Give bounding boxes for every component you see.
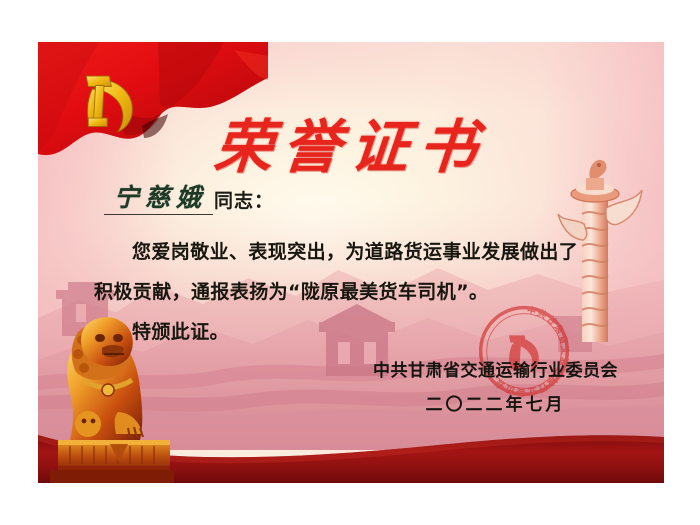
signature-block: 中共甘肃省交通运输行业委员会 二〇二二年七月 bbox=[373, 356, 618, 415]
body-line-3: 特颁此证。 bbox=[94, 312, 594, 352]
recipient-suffix: 同志： bbox=[214, 186, 274, 215]
certificate-body: 您爱岗敬业、表现突出，为道路货运事业发展做出了 积极贡献，通报表扬为“陇原最美货… bbox=[94, 232, 594, 352]
body-line-1: 您爱岗敬业、表现突出，为道路货运事业发展做出了 bbox=[94, 232, 594, 272]
issuing-organization: 中共甘肃省交通运输行业委员会 bbox=[373, 356, 618, 381]
recipient-name: 宁慈娥 bbox=[104, 184, 213, 215]
screenshot-canvas: 荣誉证书 宁慈娥 同志： 您爱岗敬业、表现突出，为道路货运事业发展做出了 积极贡… bbox=[0, 0, 700, 525]
body-line-2: 积极贡献，通报表扬为“陇原最美货车司机”。 bbox=[94, 272, 594, 312]
recipient-line: 宁慈娥 同志： bbox=[104, 184, 274, 215]
honor-certificate: 荣誉证书 宁慈娥 同志： 您爱岗敬业、表现突出，为道路货运事业发展做出了 积极贡… bbox=[38, 42, 664, 483]
certificate-title: 荣誉证书 bbox=[38, 100, 664, 184]
issue-date: 二〇二二年七月 bbox=[373, 390, 618, 415]
